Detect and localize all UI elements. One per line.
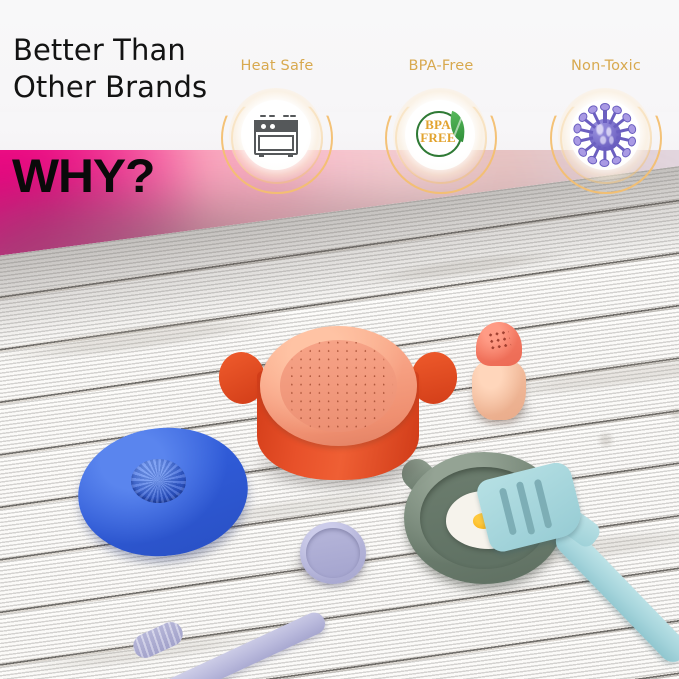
virus-germ-icon xyxy=(579,109,631,161)
spatula-slot xyxy=(534,479,553,529)
badge-label: Heat Safe xyxy=(201,58,353,74)
ladle-grip xyxy=(129,618,186,662)
strainer-lid-inner xyxy=(280,340,396,431)
virus-spike xyxy=(592,145,601,159)
blue-slotted-spatula xyxy=(478,466,679,679)
product-marketing-image: Better Than Other Brands Heat Safe BPA xyxy=(0,0,679,679)
lavender-ladle xyxy=(132,516,372,676)
spatula-slot xyxy=(516,481,536,535)
badge-rings: BPA FREE xyxy=(385,82,497,194)
page-headline: Better Than Other Brands xyxy=(13,32,207,106)
silicone-strainer-pot xyxy=(243,330,433,480)
ladle-bowl xyxy=(300,522,366,584)
spatula-slot xyxy=(499,487,517,535)
virus-spike xyxy=(613,117,626,128)
shaker-body xyxy=(472,358,526,420)
badge-non-toxic: Non-Toxic xyxy=(530,58,679,194)
pot-strainer-lid xyxy=(260,326,417,446)
strainer-holes xyxy=(280,340,396,431)
shaker-holes xyxy=(488,329,512,349)
coral-salt-shaker xyxy=(470,322,528,422)
badge-circle: BPA FREE xyxy=(405,100,475,170)
badge-label: BPA-Free xyxy=(365,58,517,74)
virus-spike xyxy=(603,147,606,161)
badge-heat-safe: Heat Safe xyxy=(201,58,353,194)
badge-circle xyxy=(241,100,311,170)
why-heading: WHY? xyxy=(12,152,154,199)
badge-circle xyxy=(570,100,640,170)
bpa-free-seal-icon: BPA FREE xyxy=(414,109,466,161)
shaker-cap xyxy=(476,322,522,366)
badge-label: Non-Toxic xyxy=(530,58,679,74)
ladle-handle xyxy=(160,609,329,679)
oven-icon xyxy=(254,115,298,155)
badge-rings xyxy=(221,82,333,194)
badge-bpa-free: BPA-Free BPA FREE xyxy=(365,58,517,194)
spatula-handle xyxy=(550,522,679,667)
lid-knob xyxy=(131,459,186,503)
virus-spike xyxy=(603,109,606,123)
badge-rings xyxy=(550,82,662,194)
